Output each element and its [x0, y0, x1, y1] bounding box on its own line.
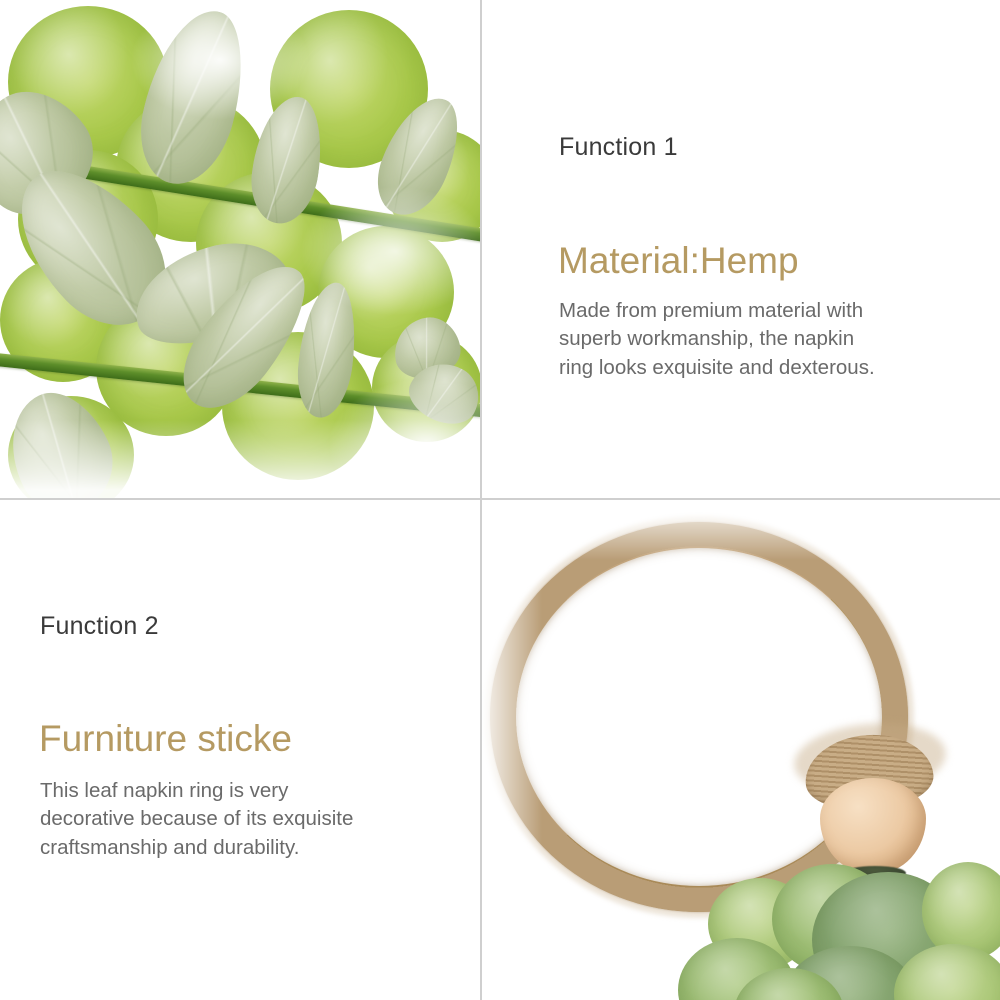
photo-panel-leaves [0, 0, 480, 498]
wooden-bead [820, 778, 926, 874]
body-line: superb workmanship, the napkin [559, 325, 875, 353]
photo-panel-napkin-ring [482, 500, 1000, 1000]
function-2-label: Function 2 [40, 612, 159, 641]
divider-vertical [480, 0, 482, 1000]
leaves-photo [0, 0, 480, 498]
function-2-body: This leaf napkin ring is very decorative… [40, 777, 353, 862]
function-1-body: Made from premium material with superb w… [559, 297, 875, 382]
function-1-headline: Material:Hemp [558, 240, 799, 282]
infographic-page: Function 1 Material:Hemp Made from premi… [0, 0, 1000, 1000]
text-panel-function-1: Function 1 Material:Hemp Made from premi… [482, 0, 1000, 498]
body-line: Made from premium material with [559, 297, 875, 325]
body-line: This leaf napkin ring is very [40, 777, 353, 805]
napkin-ring-photo [482, 500, 1000, 1000]
body-line: decorative because of its exquisite [40, 805, 353, 833]
divider-horizontal [0, 498, 1000, 500]
body-line: ring looks exquisite and dexterous. [559, 354, 875, 382]
function-1-label: Function 1 [559, 133, 678, 162]
function-2-headline: Furniture sticke [39, 718, 292, 760]
text-panel-function-2: Function 2 Furniture sticke This leaf na… [0, 500, 480, 1000]
body-line: craftsmanship and durability. [40, 834, 353, 862]
